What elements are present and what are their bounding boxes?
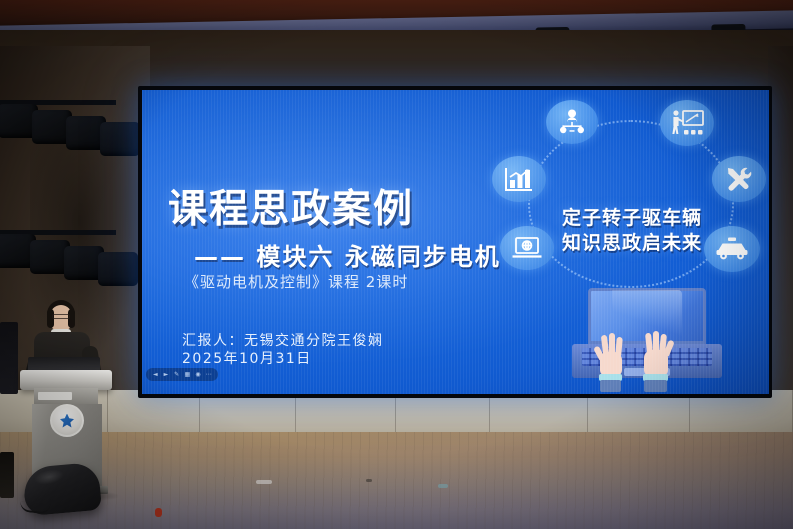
floor-marking: [438, 484, 448, 488]
next-slide-button[interactable]: ►: [162, 371, 169, 378]
podium-area: [6, 300, 136, 529]
dotted-ring: [528, 120, 734, 288]
scene-root: 课程思政案例 —— 模块六 永磁同步电机 《驱动电机及控制》课程 2课时 汇报人…: [0, 0, 793, 529]
cluster-slogan-line2: 知识思政启未来: [522, 231, 742, 256]
slide-course-line: 《驱动电机及控制》课程 2课时: [184, 271, 408, 292]
floor-marking: [366, 479, 372, 482]
previous-slide-button[interactable]: ◄: [152, 371, 159, 378]
slide-date-line: 2025年10月31日: [182, 348, 312, 368]
icon-cluster: 定子转子驱车辆 知识思政启未来: [494, 98, 766, 310]
podium-plate: [38, 392, 72, 400]
podium-top-surface: [20, 370, 112, 390]
org-chart-people-icon: [546, 100, 598, 144]
side-stage-light: [100, 122, 140, 156]
cluster-slogan-line1: 定子转子驱车辆: [522, 206, 742, 231]
zoom-button[interactable]: ◉: [194, 371, 201, 378]
floor-object-red: [155, 508, 162, 517]
cluster-slogan: 定子转子驱车辆 知识思政启未来: [522, 206, 742, 256]
more-options-button[interactable]: ⋯: [205, 371, 212, 378]
emblem-mark: [60, 414, 74, 428]
pen-annotation-button[interactable]: ✎: [173, 371, 180, 378]
slide-title: 课程思政案例: [168, 178, 414, 234]
side-stage-lights: [0, 100, 126, 320]
presentation-screen[interactable]: 课程思政案例 —— 模块六 永磁同步电机 《驱动电机及控制》课程 2课时 汇报人…: [142, 90, 769, 394]
floor-marking: [256, 480, 272, 484]
slide-subtitle: —— 模块六 永磁同步电机: [194, 237, 501, 272]
presentation-toolbar[interactable]: ◄►✎▦◉⋯: [146, 368, 218, 381]
institution-seal-emblem: [50, 404, 84, 437]
slide-overview-button[interactable]: ▦: [184, 371, 191, 378]
laptop-illustration: [572, 288, 722, 388]
speaker-glasses: [52, 314, 70, 319]
side-stage-light: [98, 252, 138, 286]
tools-wrench-screwdriver-icon: [712, 156, 766, 202]
bar-chart-growth-icon: [492, 156, 546, 202]
slide-presenter-line: 汇报人：无锡交通分院王俊娴: [182, 330, 384, 350]
teacher-whiteboard-icon: [660, 100, 714, 146]
